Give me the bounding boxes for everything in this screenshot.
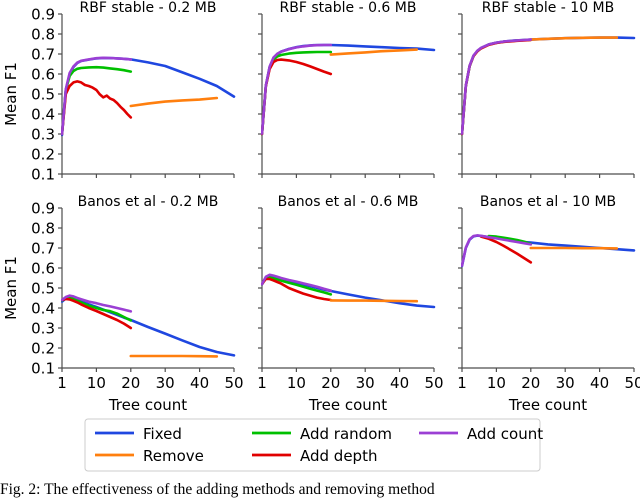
y-tick-label: 0.2: [31, 340, 55, 358]
x-tick-label: 10: [287, 374, 306, 392]
legend: FixedRemoveAdd randomAdd depthAdd count: [85, 419, 543, 471]
legend-label-remove: Remove: [143, 447, 204, 465]
figure-caption: Fig. 2: The effectiveness of the adding …: [0, 481, 640, 499]
y-tick-label: 0.8: [31, 220, 55, 238]
y-tick-label: 0.4: [31, 106, 55, 124]
subplot-1: RBF stable - 0.2 MB0.10.20.30.40.50.60.7…: [31, 0, 234, 184]
y-tick-label: 0.6: [31, 260, 55, 278]
y-tick-label: 0.1: [31, 360, 55, 378]
x-tick-label: 40: [390, 374, 409, 392]
x-tick-label: 10: [487, 374, 506, 392]
subplot-title-5: Banos et al - 0.6 MB: [278, 194, 419, 210]
series-line-remove: [531, 38, 617, 40]
legend-label-add-count: Add count: [467, 425, 543, 443]
series-line-add-depth: [62, 81, 131, 134]
y-tick-label: 0.1: [31, 166, 55, 184]
series-group: [62, 58, 234, 135]
axis-spines: [62, 14, 234, 174]
series-line-fixed: [462, 236, 634, 266]
legend-label-add-random: Add random: [300, 425, 392, 443]
subplot-5: Banos et al - 0.6 MB11020304050: [257, 194, 443, 392]
x-tick-label: 20: [121, 374, 140, 392]
x-tick-label: 50: [224, 374, 243, 392]
series-line-fixed: [62, 58, 234, 135]
x-tick-label: 1: [457, 374, 467, 392]
subplot-title-1: RBF stable - 0.2 MB: [80, 0, 217, 16]
x-axis-label-2: Tree count: [308, 396, 387, 414]
subplot-2: RBF stable - 0.6 MB: [258, 0, 434, 178]
subplot-title-2: RBF stable - 0.6 MB: [280, 0, 417, 16]
series-group: [262, 275, 434, 307]
series-line-fixed: [262, 45, 434, 134]
series-line-add-depth: [462, 40, 531, 134]
series-line-remove: [331, 50, 417, 55]
figure-svg: RBF stable - 0.2 MB0.10.20.30.40.50.60.7…: [0, 0, 640, 503]
y-tick-label: 0.4: [31, 300, 55, 318]
x-axis-label-3: Tree count: [508, 396, 587, 414]
y-axis-label-2: Mean F1: [2, 256, 20, 320]
series-line-add-depth: [262, 60, 331, 134]
subplot-title-4: Banos et al - 0.2 MB: [78, 194, 219, 210]
y-tick-label: 0.9: [31, 6, 55, 24]
y-tick-label: 0.9: [31, 200, 55, 218]
x-tick-label: 50: [624, 374, 640, 392]
y-tick-label: 0.5: [31, 280, 55, 298]
y-tick-label: 0.3: [31, 320, 55, 338]
subplot-3: RBF stable - 10 MB: [458, 0, 634, 178]
x-tick-label: 20: [321, 374, 340, 392]
series-line-remove: [331, 300, 417, 301]
x-tick-label: 50: [424, 374, 443, 392]
subplot-title-6: Banos et al - 10 MB: [480, 194, 616, 210]
axis-spines: [262, 14, 434, 174]
x-tick-label: 1: [257, 374, 267, 392]
y-tick-label: 0.7: [31, 46, 55, 64]
series-line-add-count: [262, 45, 331, 134]
x-tick-label: 20: [521, 374, 540, 392]
series-line-add-random: [62, 67, 131, 134]
y-tick-label: 0.2: [31, 146, 55, 164]
series-line-fixed: [462, 38, 634, 134]
x-tick-label: 30: [556, 374, 575, 392]
y-tick-label: 0.3: [31, 126, 55, 144]
legend-label-add-depth: Add depth: [300, 447, 377, 465]
x-tick-label: 1: [57, 374, 67, 392]
x-tick-label: 30: [356, 374, 375, 392]
subplot-4: Banos et al - 0.2 MB0.10.20.30.40.50.60.…: [31, 194, 243, 392]
legend-label-fixed: Fixed: [143, 425, 182, 443]
x-tick-label: 40: [190, 374, 209, 392]
axis-spines: [62, 208, 234, 368]
x-axis-label-1: Tree count: [108, 396, 187, 414]
y-axis-label-1: Mean F1: [2, 62, 20, 126]
y-tick-label: 0.5: [31, 86, 55, 104]
y-tick-label: 0.7: [31, 240, 55, 258]
series-group: [462, 38, 634, 134]
subplot-title-3: RBF stable - 10 MB: [482, 0, 615, 16]
series-group: [62, 296, 234, 357]
series-line-add-random: [462, 40, 531, 134]
y-tick-label: 0.8: [31, 26, 55, 44]
axis-spines: [462, 208, 634, 368]
series-line-remove: [131, 98, 217, 106]
series-group: [462, 235, 634, 266]
y-tick-label: 0.6: [31, 66, 55, 84]
series-group: [262, 45, 434, 134]
x-tick-label: 40: [590, 374, 609, 392]
series-line-add-count: [462, 40, 531, 134]
x-tick-label: 30: [156, 374, 175, 392]
subplot-6: Banos et al - 10 MB11020304050: [457, 194, 640, 392]
x-tick-label: 10: [87, 374, 106, 392]
figure-container: RBF stable - 0.2 MB0.10.20.30.40.50.60.7…: [0, 0, 640, 503]
